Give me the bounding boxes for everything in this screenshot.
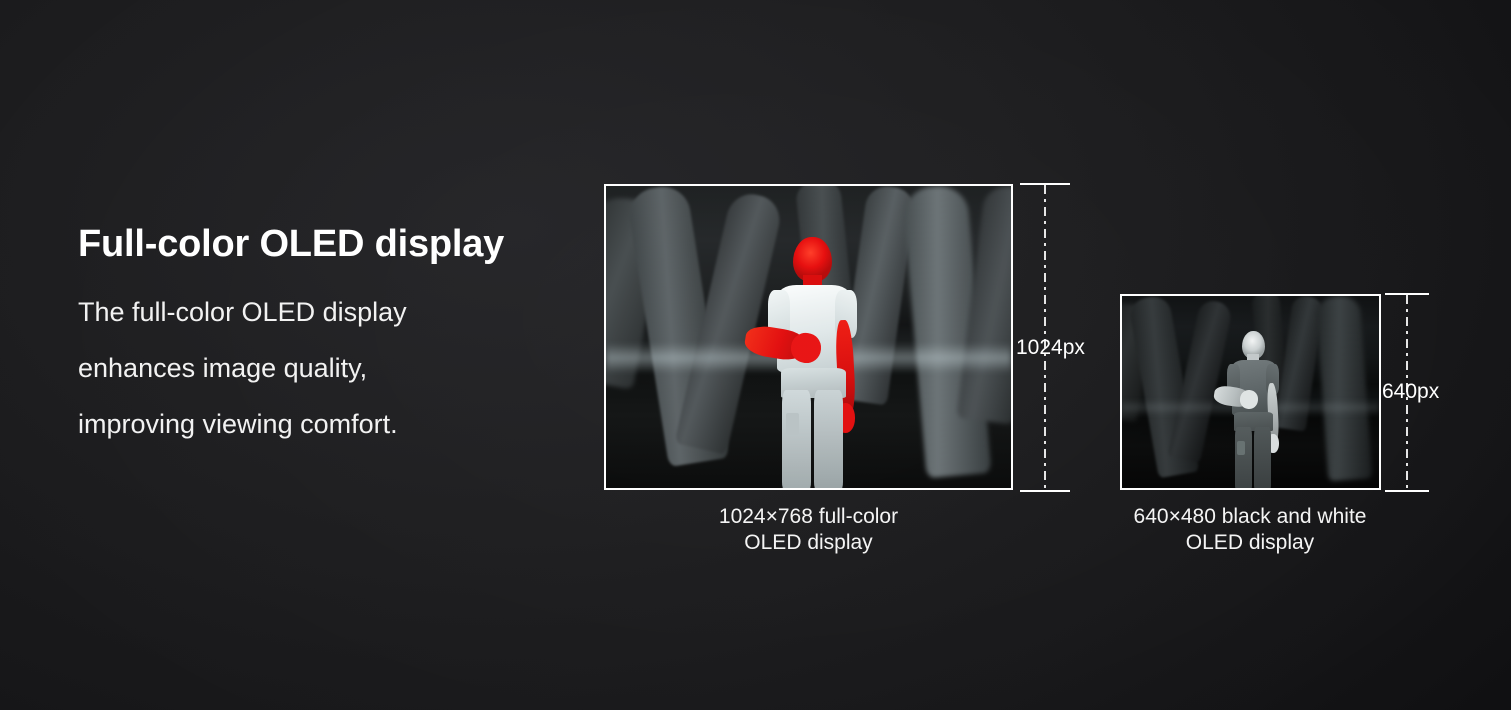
thermal-scene-color (606, 186, 1011, 488)
caption-line-2: OLED display (604, 530, 1013, 556)
figure-leg-left (782, 390, 811, 488)
dimension-label-640: 640px (1382, 381, 1439, 402)
description-paragraph: The full-color OLED display enhances ima… (78, 284, 548, 452)
figure-leg-left (1235, 427, 1252, 488)
dimension-label-1024: 1024px (1016, 337, 1085, 358)
display-preview-small (1120, 294, 1381, 490)
human-figure (744, 237, 882, 488)
caption-large-display: 1024×768 full-color OLED display (604, 504, 1013, 556)
description-line-1: The full-color OLED display (78, 284, 548, 340)
thermal-scene-monochrome (1122, 296, 1379, 488)
description-line-2: enhances image quality, (78, 340, 548, 396)
figure-leg-right (814, 390, 843, 488)
caption-small-display: 640×480 black and white OLED display (1105, 504, 1395, 556)
caption-line-1: 1024×768 full-color (604, 504, 1013, 530)
description-line-3: improving viewing comfort. (78, 396, 548, 452)
figure-pocket (1237, 441, 1244, 455)
human-figure (1212, 331, 1294, 488)
dimension-cap-bottom (1385, 490, 1429, 492)
display-preview-large (604, 184, 1013, 490)
page-title: Full-color OLED display (78, 223, 504, 267)
dimension-cap-bottom (1020, 490, 1070, 492)
caption-line-2: OLED display (1105, 530, 1395, 556)
caption-line-1: 640×480 black and white (1105, 504, 1395, 530)
figure-leg-right (1254, 427, 1271, 488)
oled-display-feature-slide: Full-color OLED display The full-color O… (0, 0, 1511, 710)
figure-pocket (786, 413, 798, 436)
